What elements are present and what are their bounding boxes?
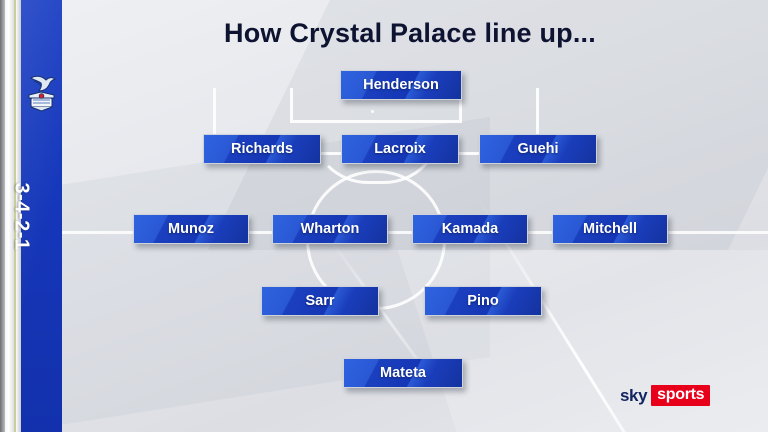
penalty-spot xyxy=(371,110,374,113)
player-badge[interactable]: Richards xyxy=(203,134,321,164)
crystal-palace-crest-icon xyxy=(25,72,58,114)
sports-logo-word: sports xyxy=(657,386,704,403)
page-title: How Crystal Palace line up... xyxy=(110,18,710,49)
background-shade-right xyxy=(398,250,768,432)
player-badge[interactable]: Mateta xyxy=(343,358,463,388)
lineup-graphic: HendersonRichardsLacroixGuehiMunozWharto… xyxy=(0,0,768,432)
player-badge[interactable]: Munoz xyxy=(133,214,249,244)
player-badge[interactable]: Henderson xyxy=(340,70,462,100)
sports-logo-box: sports xyxy=(651,385,710,406)
player-badge[interactable]: Pino xyxy=(424,286,542,316)
player-badge[interactable]: Guehi xyxy=(479,134,597,164)
player-badge[interactable]: Wharton xyxy=(272,214,388,244)
player-badge[interactable]: Lacroix xyxy=(341,134,459,164)
formation-label: 3-4-2-1 xyxy=(1,167,42,267)
player-badge[interactable]: Kamada xyxy=(412,214,528,244)
player-badge[interactable]: Sarr xyxy=(261,286,379,316)
sky-logo-word: sky xyxy=(620,386,647,406)
player-badge[interactable]: Mitchell xyxy=(552,214,668,244)
sky-sports-logo: sky sports xyxy=(620,385,710,406)
